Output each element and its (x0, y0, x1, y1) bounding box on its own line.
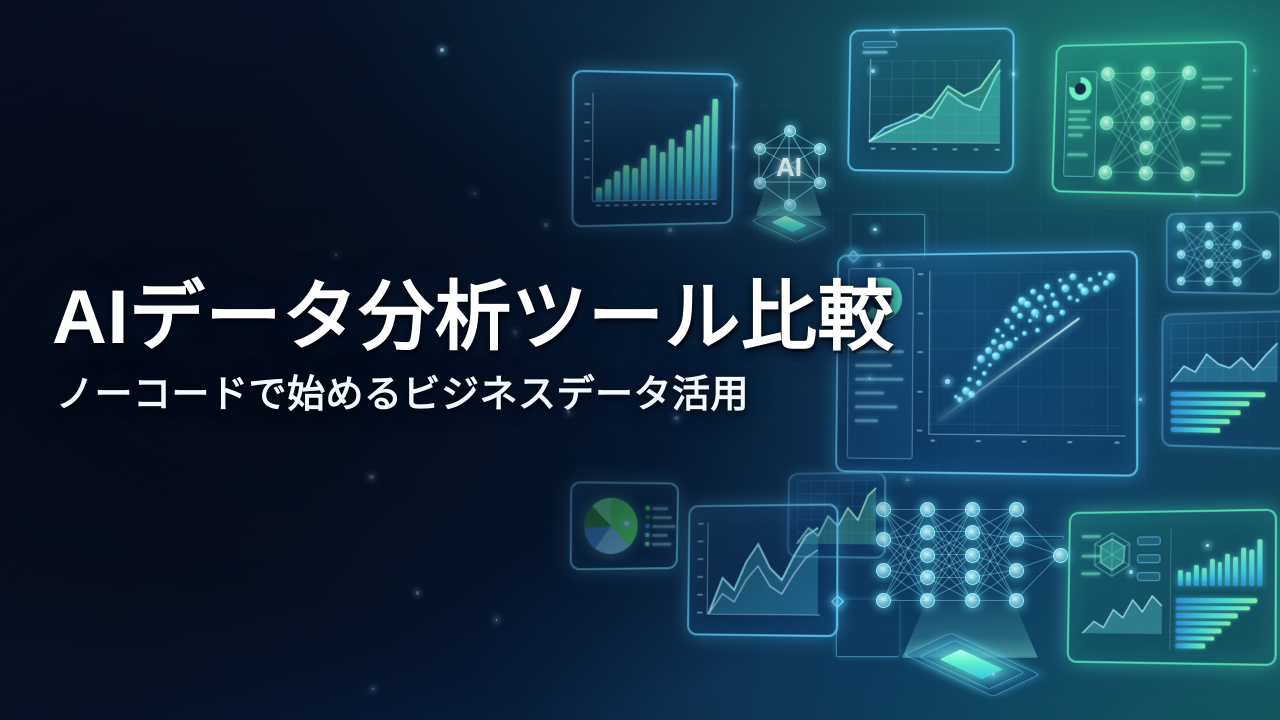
headline-block: AIデータ分析ツール比較 ノーコードで始めるビジネスデータ活用 (52, 278, 952, 417)
hero-banner: AI AIデータ分析ツール比較 ノーコードで始めるビジネスデータ活用 (0, 0, 1280, 720)
page-title: AIデータ分析ツール比較 (52, 278, 952, 357)
page-subtitle: ノーコードで始めるビジネスデータ活用 (56, 375, 952, 417)
